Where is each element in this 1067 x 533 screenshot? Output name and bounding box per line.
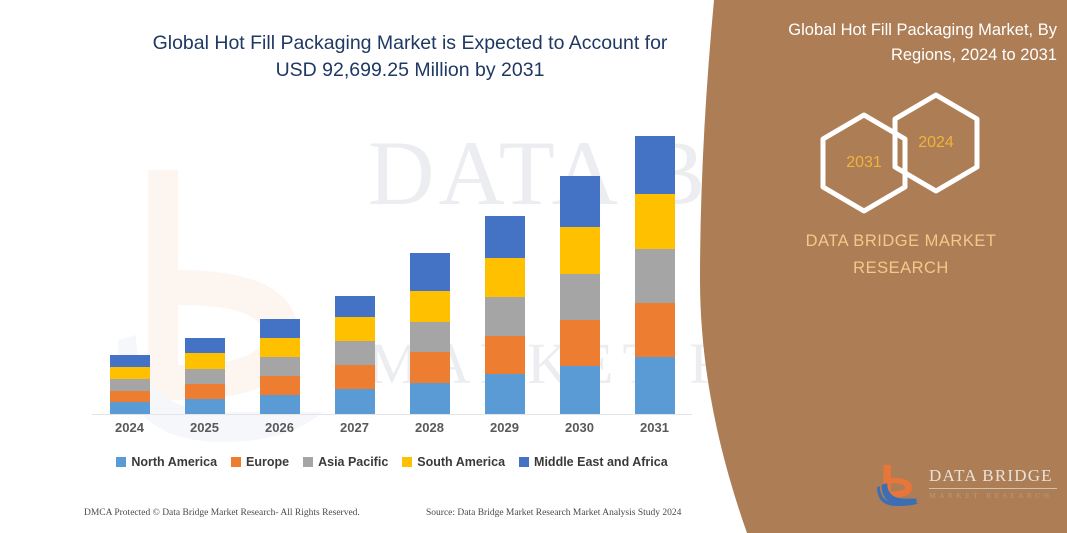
chart-title-line-1: Global Hot Fill Packaging Market is Expe… [110,30,710,57]
footer: DMCA Protected © Data Bridge Market Rese… [0,500,710,533]
legend-swatch-icon [116,457,126,467]
bar-segment [410,352,450,383]
brand-line-1: DATA BRIDGE MARKET [745,228,1057,255]
bar-slot [467,110,542,414]
hexagon-2024-label: 2024 [889,91,983,195]
bar-segment [185,338,225,353]
stacked-bar-2025[interactable] [185,338,225,414]
bar-segment [260,357,300,376]
stacked-bar-2026[interactable] [260,319,300,414]
logo-wordmark: DATA BRIDGE [929,466,1053,486]
bar-segment [110,379,150,391]
bar-slot [392,110,467,414]
brand-line-2: RESEARCH [745,255,1057,282]
bar-segment [560,227,600,274]
brand-name: DATA BRIDGE MARKET RESEARCH [745,228,1057,282]
bar-segment [560,176,600,227]
legend-swatch-icon [519,457,529,467]
bar-slot [92,110,167,414]
bar-segment [260,376,300,395]
panel-title-line-1: Global Hot Fill Packaging Market, By [745,18,1057,43]
bar-segment [185,369,225,384]
legend-item[interactable]: Middle East and Africa [519,455,668,469]
chart-title: Global Hot Fill Packaging Market is Expe… [110,30,710,84]
bar-group [92,110,692,414]
bar-segment [635,357,675,414]
bar-segment [185,353,225,369]
bar-segment [485,258,525,297]
bar-segment [110,367,150,379]
bar-segment [560,366,600,414]
stacked-bar-2024[interactable] [110,355,150,414]
bar-segment [185,399,225,415]
bar-segment [260,338,300,357]
bar-segment [485,297,525,336]
bar-segment [185,384,225,399]
legend-label: South America [417,455,505,469]
bar-segment [335,365,375,389]
data-bridge-logo-mark-icon [877,462,923,506]
bar-segment [485,336,525,375]
legend-swatch-icon [231,457,241,467]
bar-segment [635,303,675,357]
x-axis-label-2027: 2027 [317,420,392,435]
bar-slot [317,110,392,414]
stacked-bar-2030[interactable] [560,176,600,414]
bar-segment [335,296,375,317]
x-axis-label-2030: 2030 [542,420,617,435]
bar-slot [542,110,617,414]
bar-slot [617,110,692,414]
x-axis-labels: 20242025202620272028202920302031 [92,420,692,435]
legend-item[interactable]: North America [116,455,217,469]
bar-slot [242,110,317,414]
bar-segment [335,317,375,341]
bar-slot [167,110,242,414]
legend-label: Asia Pacific [318,455,388,469]
chart-title-line-2: USD 92,699.25 Million by 2031 [110,57,710,84]
legend-swatch-icon [303,457,313,467]
legend-item[interactable]: Asia Pacific [303,455,388,469]
bar-segment [635,194,675,249]
logo-tagline: MARKET RESEARCH [929,491,1053,500]
panel-title-line-2: Regions, 2024 to 2031 [745,43,1057,68]
bar-segment [110,355,150,367]
bar-segment [560,320,600,366]
bar-segment [410,253,450,291]
legend-item[interactable]: Europe [231,455,289,469]
bar-segment [485,374,525,414]
bar-segment [260,319,300,338]
bar-segment [635,136,675,194]
legend-label: Europe [246,455,289,469]
chart-plot-area [92,110,692,415]
legend-item[interactable]: South America [402,455,505,469]
data-bridge-logo: DATA BRIDGE MARKET RESEARCH [877,460,1063,508]
legend-swatch-icon [402,457,412,467]
bar-segment [410,291,450,322]
bar-segment [335,341,375,365]
bar-segment [635,249,675,303]
stacked-bar-2029[interactable] [485,216,525,414]
chart-legend: North AmericaEuropeAsia PacificSouth Ame… [92,455,692,469]
panel-title: Global Hot Fill Packaging Market, By Reg… [745,18,1057,68]
legend-label: Middle East and Africa [534,455,668,469]
legend-label: North America [131,455,217,469]
logo-divider [929,488,1057,489]
x-axis-label-2025: 2025 [167,420,242,435]
footer-source: Source: Data Bridge Market Research Mark… [426,508,681,518]
hexagon-group: 2031 2024 [817,95,1017,205]
bar-segment [410,322,450,352]
stacked-bar-2028[interactable] [410,253,450,414]
bar-segment [335,389,375,414]
bar-segment [110,391,150,403]
bar-segment [260,395,300,415]
stacked-bar-2027[interactable] [335,296,375,414]
infographic-root: DATA BRIDGE MARKET RESEARCH Global Hot F… [0,0,1067,533]
x-axis-label-2029: 2029 [467,420,542,435]
bar-segment [560,274,600,320]
x-axis-label-2026: 2026 [242,420,317,435]
hexagon-2024: 2024 [889,91,983,195]
bar-segment [485,216,525,258]
x-axis-line [92,414,692,415]
x-axis-label-2031: 2031 [617,420,692,435]
right-panel-content: Global Hot Fill Packaging Market, By Reg… [735,0,1067,533]
x-axis-label-2028: 2028 [392,420,467,435]
stacked-bar-2031[interactable] [635,136,675,414]
footer-copyright: DMCA Protected © Data Bridge Market Rese… [84,508,360,518]
bar-segment [410,383,450,415]
bar-segment [110,402,150,414]
x-axis-label-2024: 2024 [92,420,167,435]
